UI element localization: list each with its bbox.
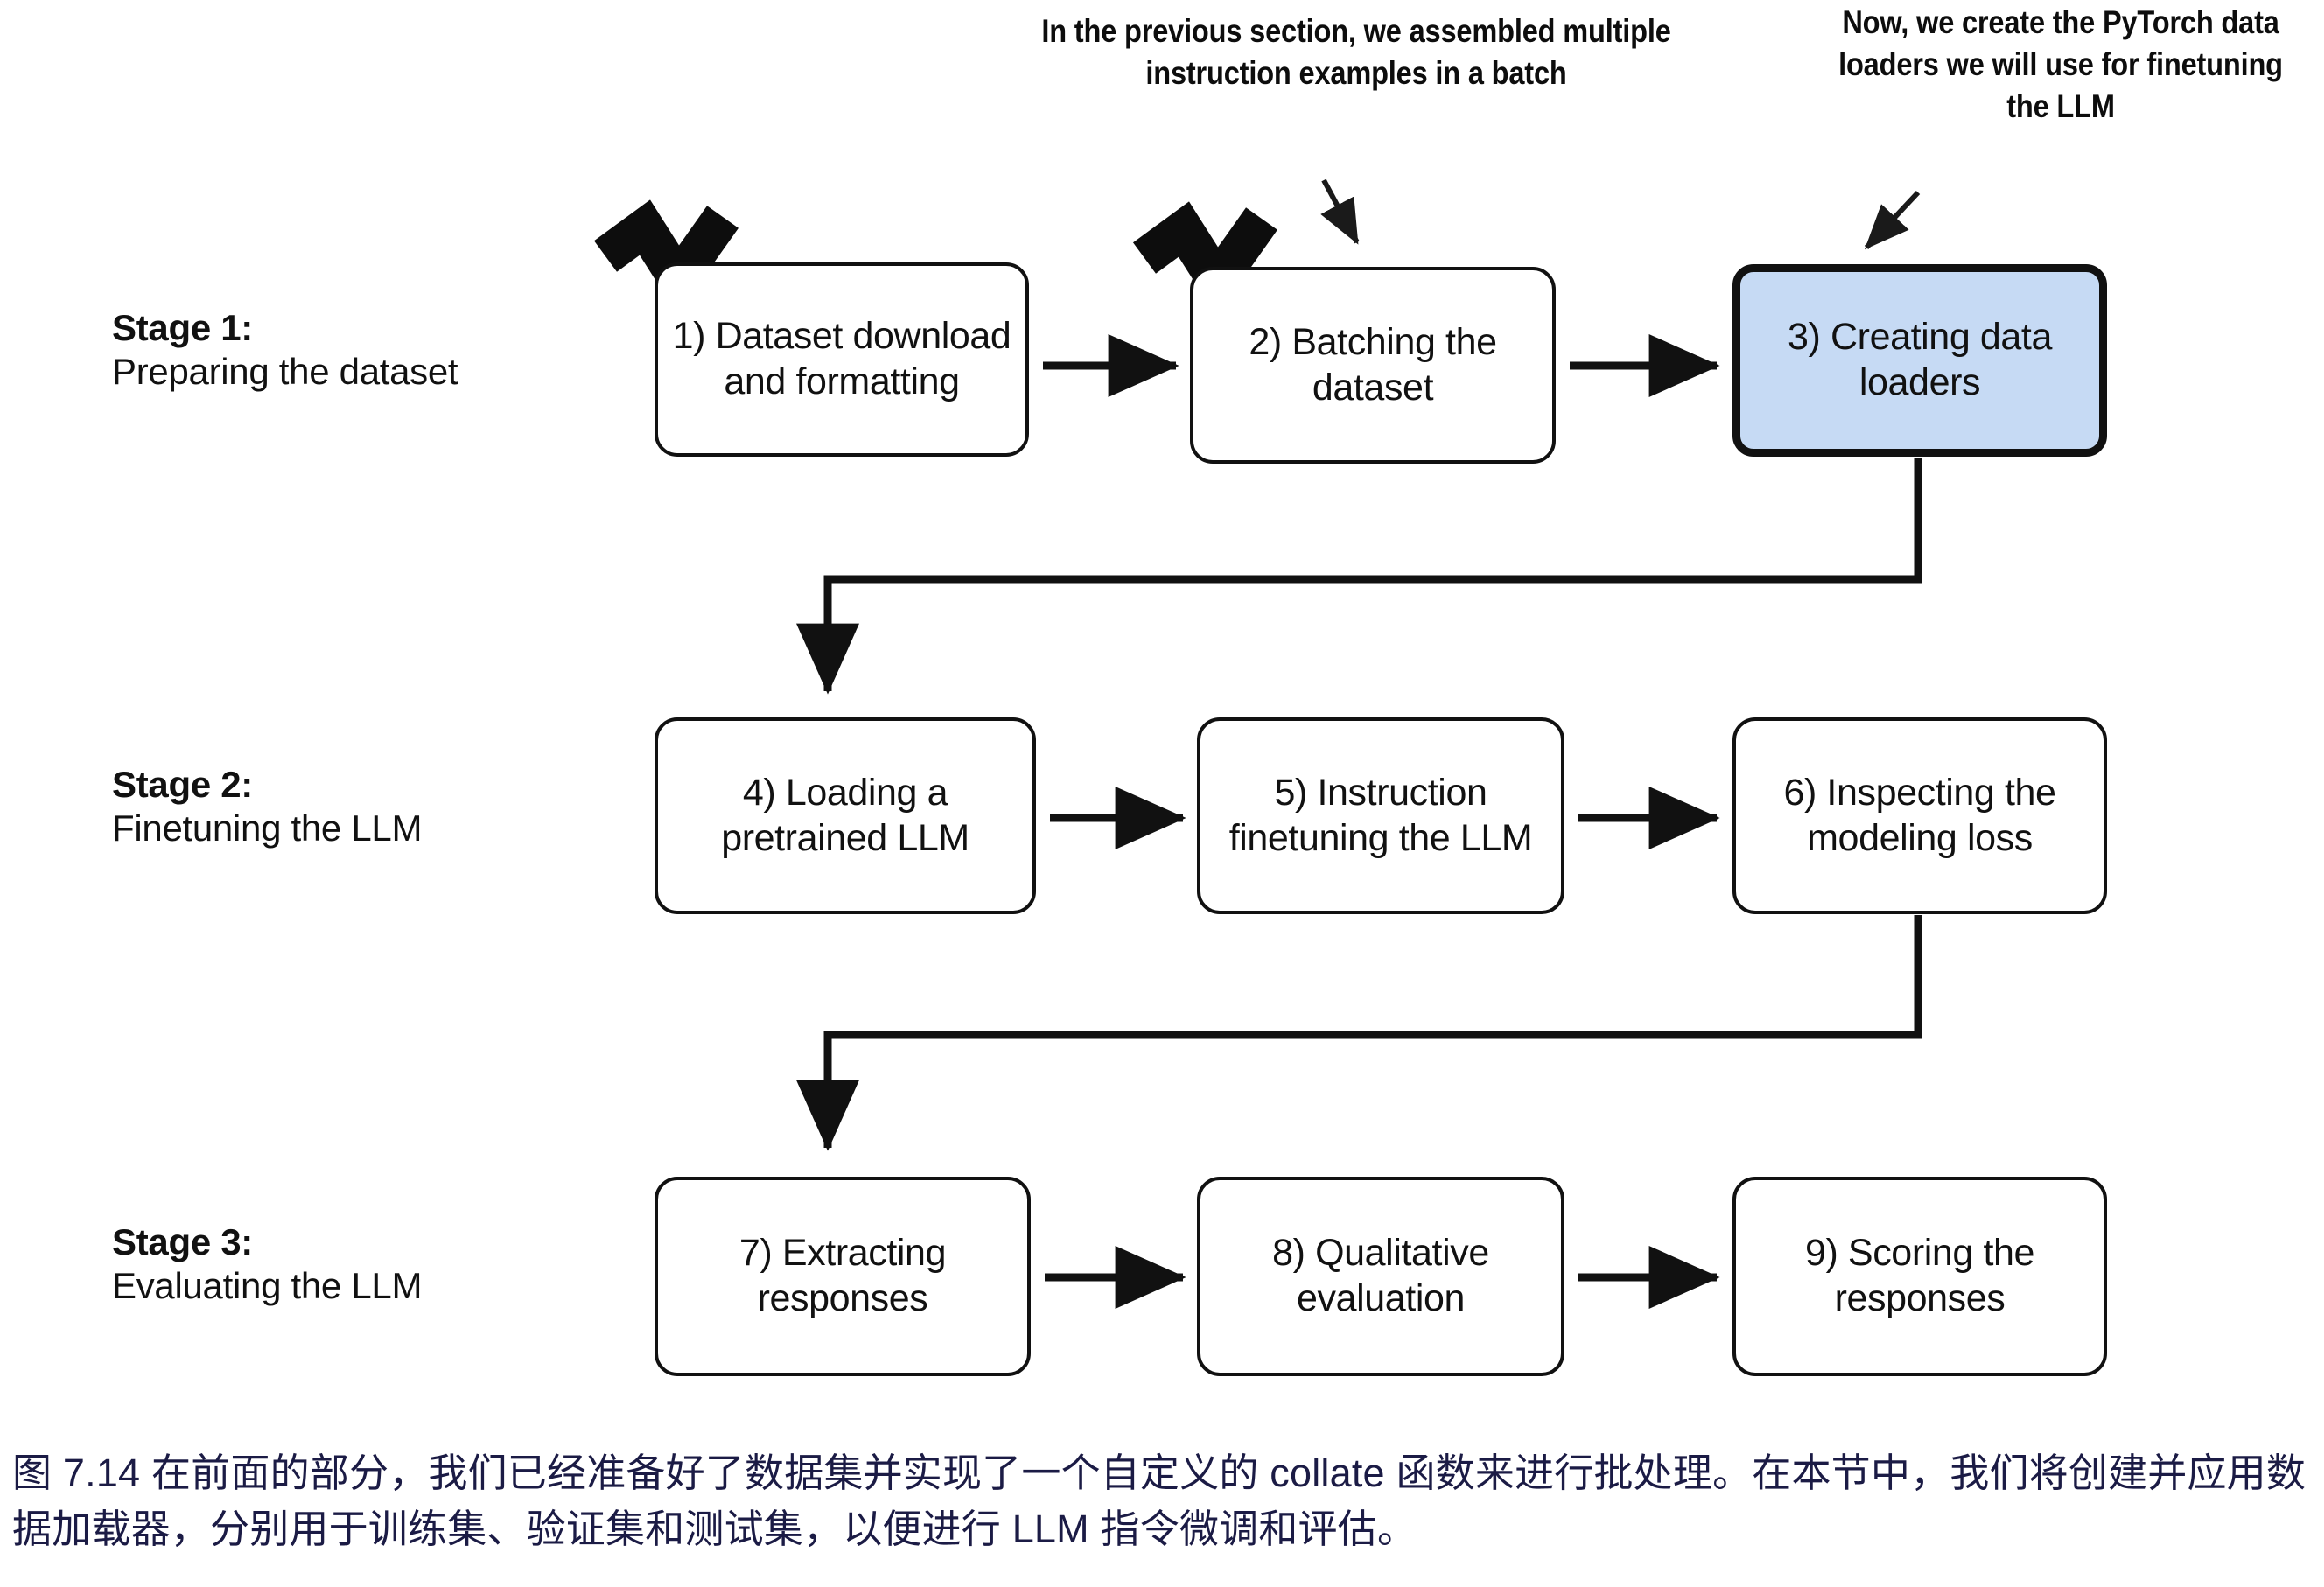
flow-step-7-extracting-responses[interactable]: 7) Extracting responses — [654, 1177, 1031, 1376]
callout-dataloaders-note: Now, we create the PyTorch data loaders … — [1830, 2, 2292, 128]
flow-step-1-dataset-download-and-formatting[interactable]: 1) Dataset download and formatting — [654, 262, 1029, 457]
callout-arrow-to-box3 — [1866, 192, 1918, 248]
stage-1-subtitle: Preparing the dataset — [112, 350, 458, 394]
flow-step-6-inspecting-the-modeling-loss[interactable]: 6) Inspecting the modeling loss — [1732, 717, 2107, 914]
flow-step-5-instruction-finetuning-the-llm[interactable]: 5) Instruction finetuning the LLM — [1197, 717, 1564, 914]
figure-caption: 图 7.14 在前面的部分，我们已经准备好了数据集并实现了一个自定义的 coll… — [12, 1445, 2313, 1557]
flow-step-4-loading-a-pretrained-llm[interactable]: 4) Loading a pretrained LLM — [654, 717, 1036, 914]
stage-1-label: Stage 1: Preparing the dataset — [112, 306, 458, 393]
flow-step-3-creating-data-loaders[interactable]: 3) Creating data loaders — [1732, 264, 2107, 457]
stage-2-title: Stage 2: — [112, 763, 422, 807]
flow-step-2-batching-the-dataset[interactable]: 2) Batching the dataset — [1190, 267, 1556, 464]
callout-arrow-to-box2 — [1324, 180, 1357, 242]
callout-batching-note: In the previous section, we assembled mu… — [998, 10, 1714, 94]
stage-3-subtitle: Evaluating the LLM — [112, 1264, 422, 1308]
flow-step-9-scoring-the-responses[interactable]: 9) Scoring the responses — [1732, 1177, 2107, 1376]
flow-step-8-qualitative-evaluation[interactable]: 8) Qualitative evaluation — [1197, 1177, 1564, 1376]
stage-3-label: Stage 3: Evaluating the LLM — [112, 1220, 422, 1307]
stage-2-label: Stage 2: Finetuning the LLM — [112, 763, 422, 849]
stage-3-title: Stage 3: — [112, 1220, 422, 1264]
connector-stage2-to-stage3 — [828, 915, 1918, 1148]
stage-1-title: Stage 1: — [112, 306, 458, 350]
stage-2-subtitle: Finetuning the LLM — [112, 807, 422, 850]
connector-stage1-to-stage2 — [828, 458, 1918, 691]
